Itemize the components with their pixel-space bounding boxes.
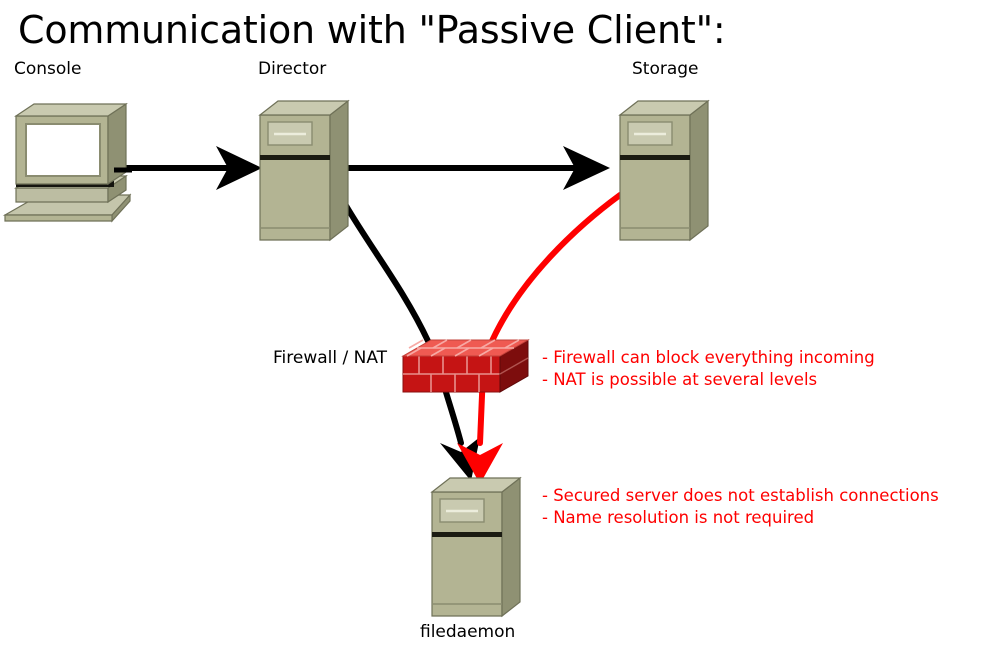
node-label-storage: Storage [632,59,699,79]
annotation-firewall-line-2: - NAT is possible at several levels [542,369,875,391]
node-label-director: Director [258,59,326,79]
annotation-secured-server-line-1: - Secured server does not establish conn… [542,485,939,507]
annotation-firewall: - Firewall can block everything incoming… [542,347,875,391]
connection-console-to-director [120,146,262,190]
annotation-firewall-line-1: - Firewall can block everything incoming [542,347,875,369]
node-director[interactable] [260,101,348,240]
diagram-graphics [0,0,1000,648]
node-firewall[interactable] [403,340,528,392]
node-storage[interactable] [620,101,708,240]
annotation-secured-server: - Secured server does not establish conn… [542,485,939,529]
node-label-firewall: Firewall / NAT [273,348,387,368]
node-filedaemon[interactable] [432,478,520,616]
annotation-secured-server-line-2: - Name resolution is not required [542,507,939,529]
node-console[interactable] [5,104,132,221]
connection-director-to-storage [340,146,610,190]
node-label-filedaemon: filedaemon [420,622,515,642]
node-label-console: Console [14,59,82,79]
diagram-canvas: Communication with "Passive Client": [0,0,1000,648]
